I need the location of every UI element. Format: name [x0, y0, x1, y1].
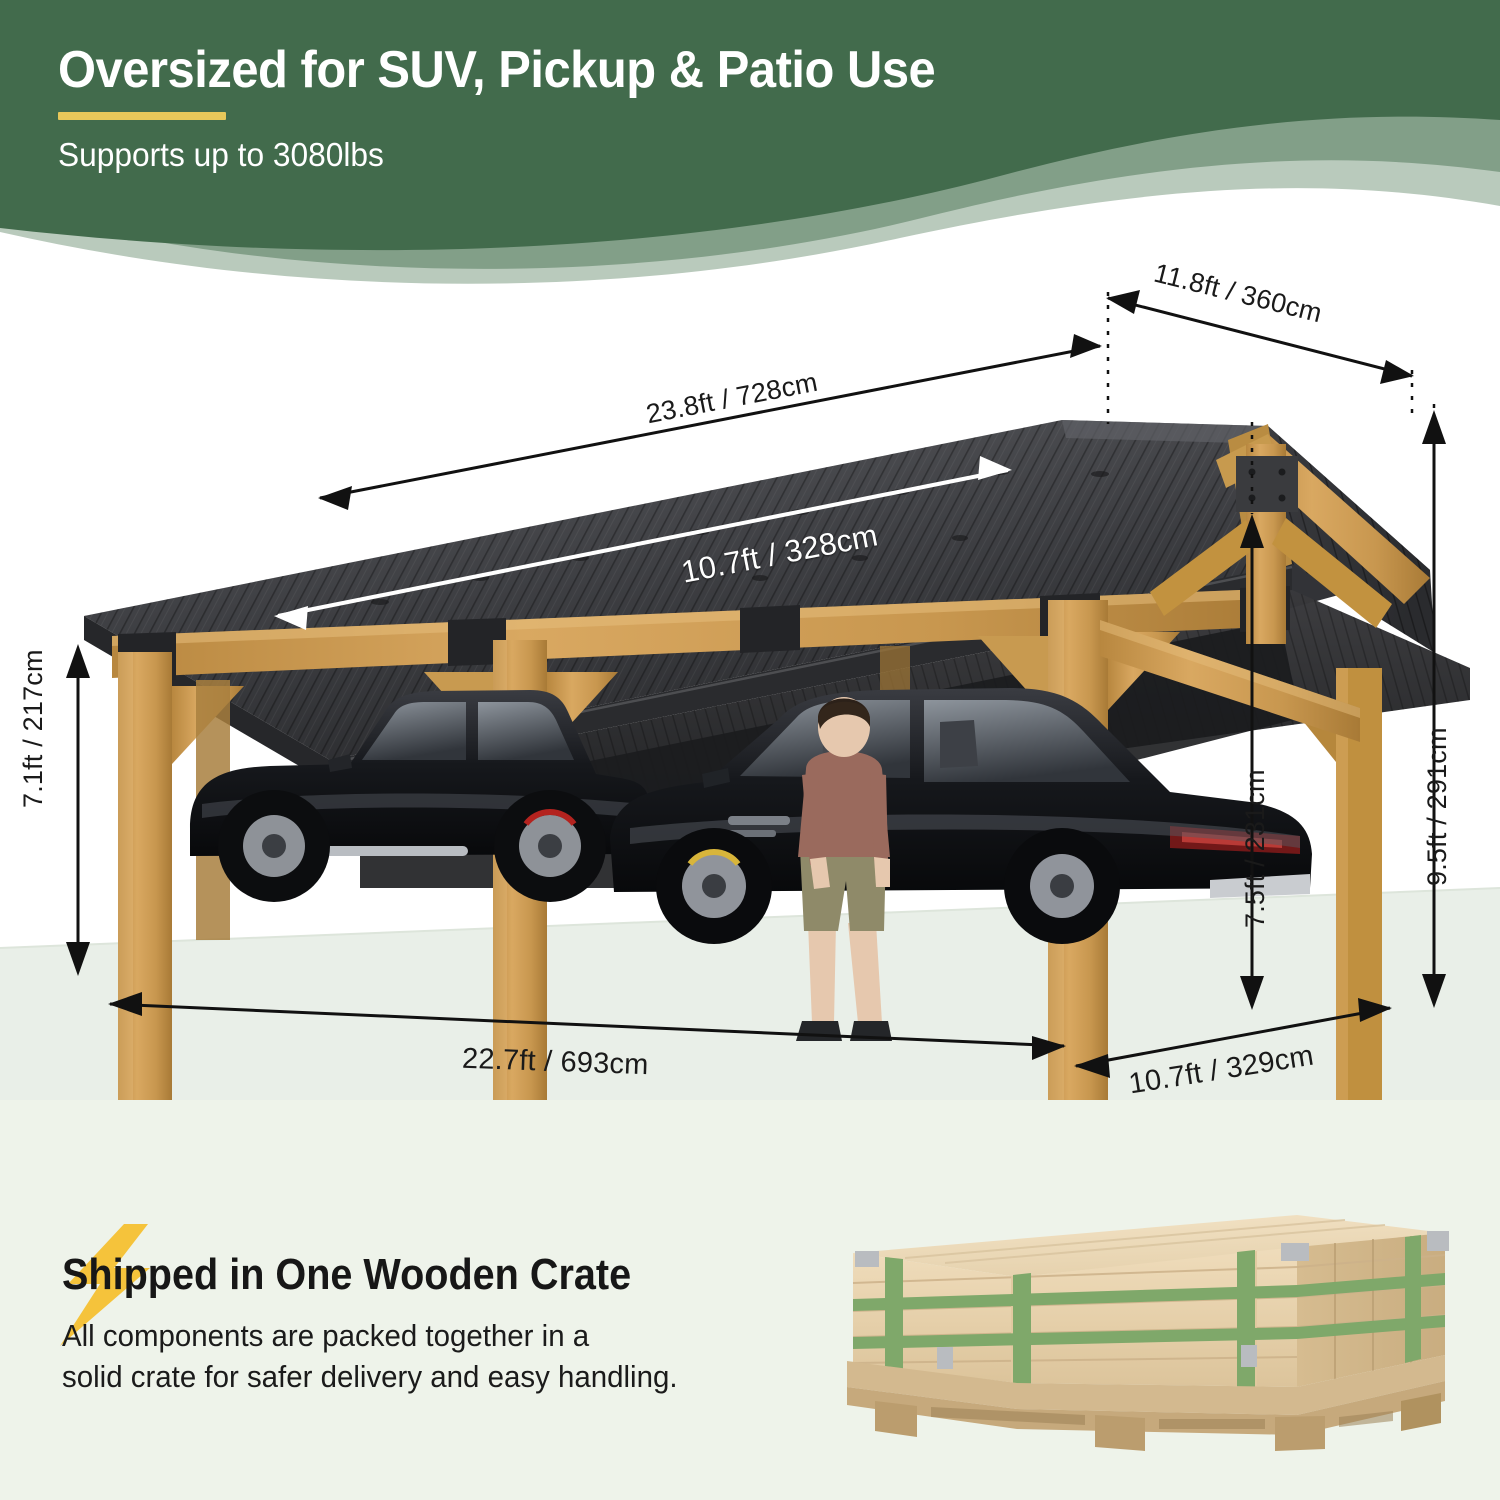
- dimension-label-post-height-left: 7.1ft / 217cm: [18, 649, 49, 808]
- sedan-wheel-rear: [1004, 828, 1120, 944]
- shipping-description: All components are packed together in a …: [62, 1315, 678, 1397]
- infographic-page: Oversized for SUV, Pickup & Patio Use Su…: [0, 0, 1500, 1500]
- dimension-label-clearance-height: 7.5ft / 231cm: [1240, 769, 1271, 928]
- title-accent-rule: [58, 112, 226, 120]
- truck-wheel-front: [218, 790, 330, 902]
- page-subtitle: Supports up to 3080lbs: [58, 136, 954, 174]
- product-illustration: 23.8ft / 728cm 11.8ft / 360cm 10.7ft / 3…: [0, 248, 1500, 1188]
- truss-plate: [1236, 456, 1298, 512]
- shipping-title: Shipped in One Wooden Crate: [62, 1250, 631, 1300]
- truck-wheel-rear: [494, 790, 606, 902]
- header-text-block: Oversized for SUV, Pickup & Patio Use Su…: [58, 42, 991, 174]
- dimension-label-peak-height: 9.5ft / 291cm: [1422, 727, 1453, 886]
- dimension-label-base-length: 22.7ft / 693cm: [461, 1043, 649, 1082]
- wooden-crate-image: [845, 1205, 1495, 1470]
- page-title: Oversized for SUV, Pickup & Patio Use: [58, 42, 935, 98]
- sedan-wheel-front: [656, 828, 772, 944]
